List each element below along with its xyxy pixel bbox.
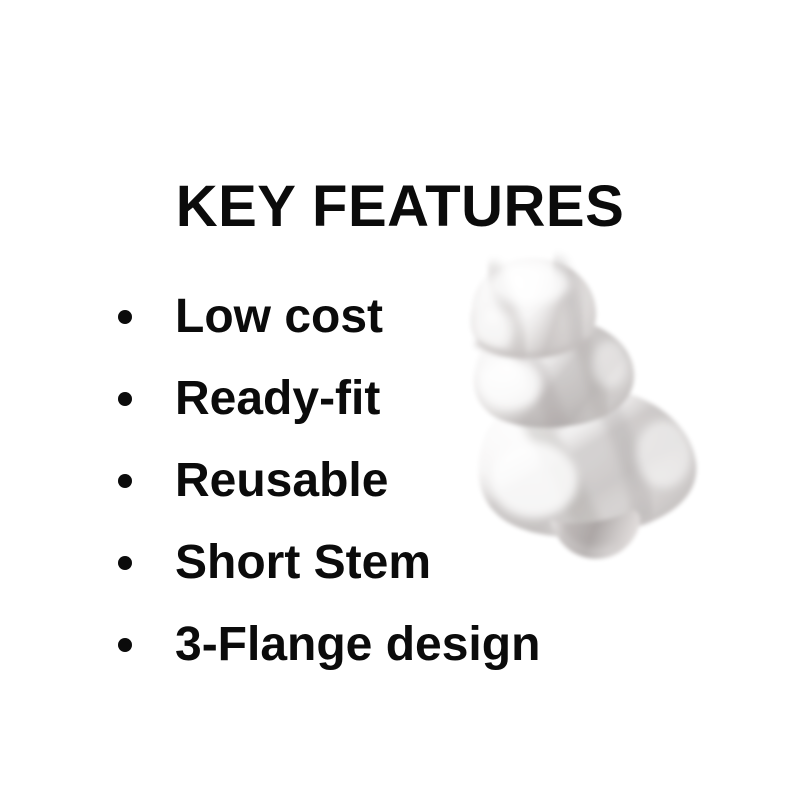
list-item: 3-Flange design xyxy=(118,604,718,686)
feature-label: Ready-fit xyxy=(175,373,380,425)
page-title: KEY FEATURES xyxy=(0,176,800,238)
key-features-infographic: KEY FEATURES Low cost Ready-fit Reusable… xyxy=(0,0,800,800)
list-item: Reusable xyxy=(118,440,718,522)
feature-label: Reusable xyxy=(175,455,388,507)
bullet-icon xyxy=(118,556,132,570)
feature-label: Short Stem xyxy=(175,537,431,589)
feature-label: Low cost xyxy=(175,291,383,343)
list-item: Short Stem xyxy=(118,522,718,604)
bullet-icon xyxy=(118,638,132,652)
list-item: Ready-fit xyxy=(118,358,718,440)
features-list: Low cost Ready-fit Reusable Short Stem 3… xyxy=(118,276,718,686)
list-item: Low cost xyxy=(118,276,718,358)
bullet-icon xyxy=(118,474,132,488)
bullet-icon xyxy=(118,310,132,324)
feature-label: 3-Flange design xyxy=(175,619,540,671)
bullet-icon xyxy=(118,392,132,406)
